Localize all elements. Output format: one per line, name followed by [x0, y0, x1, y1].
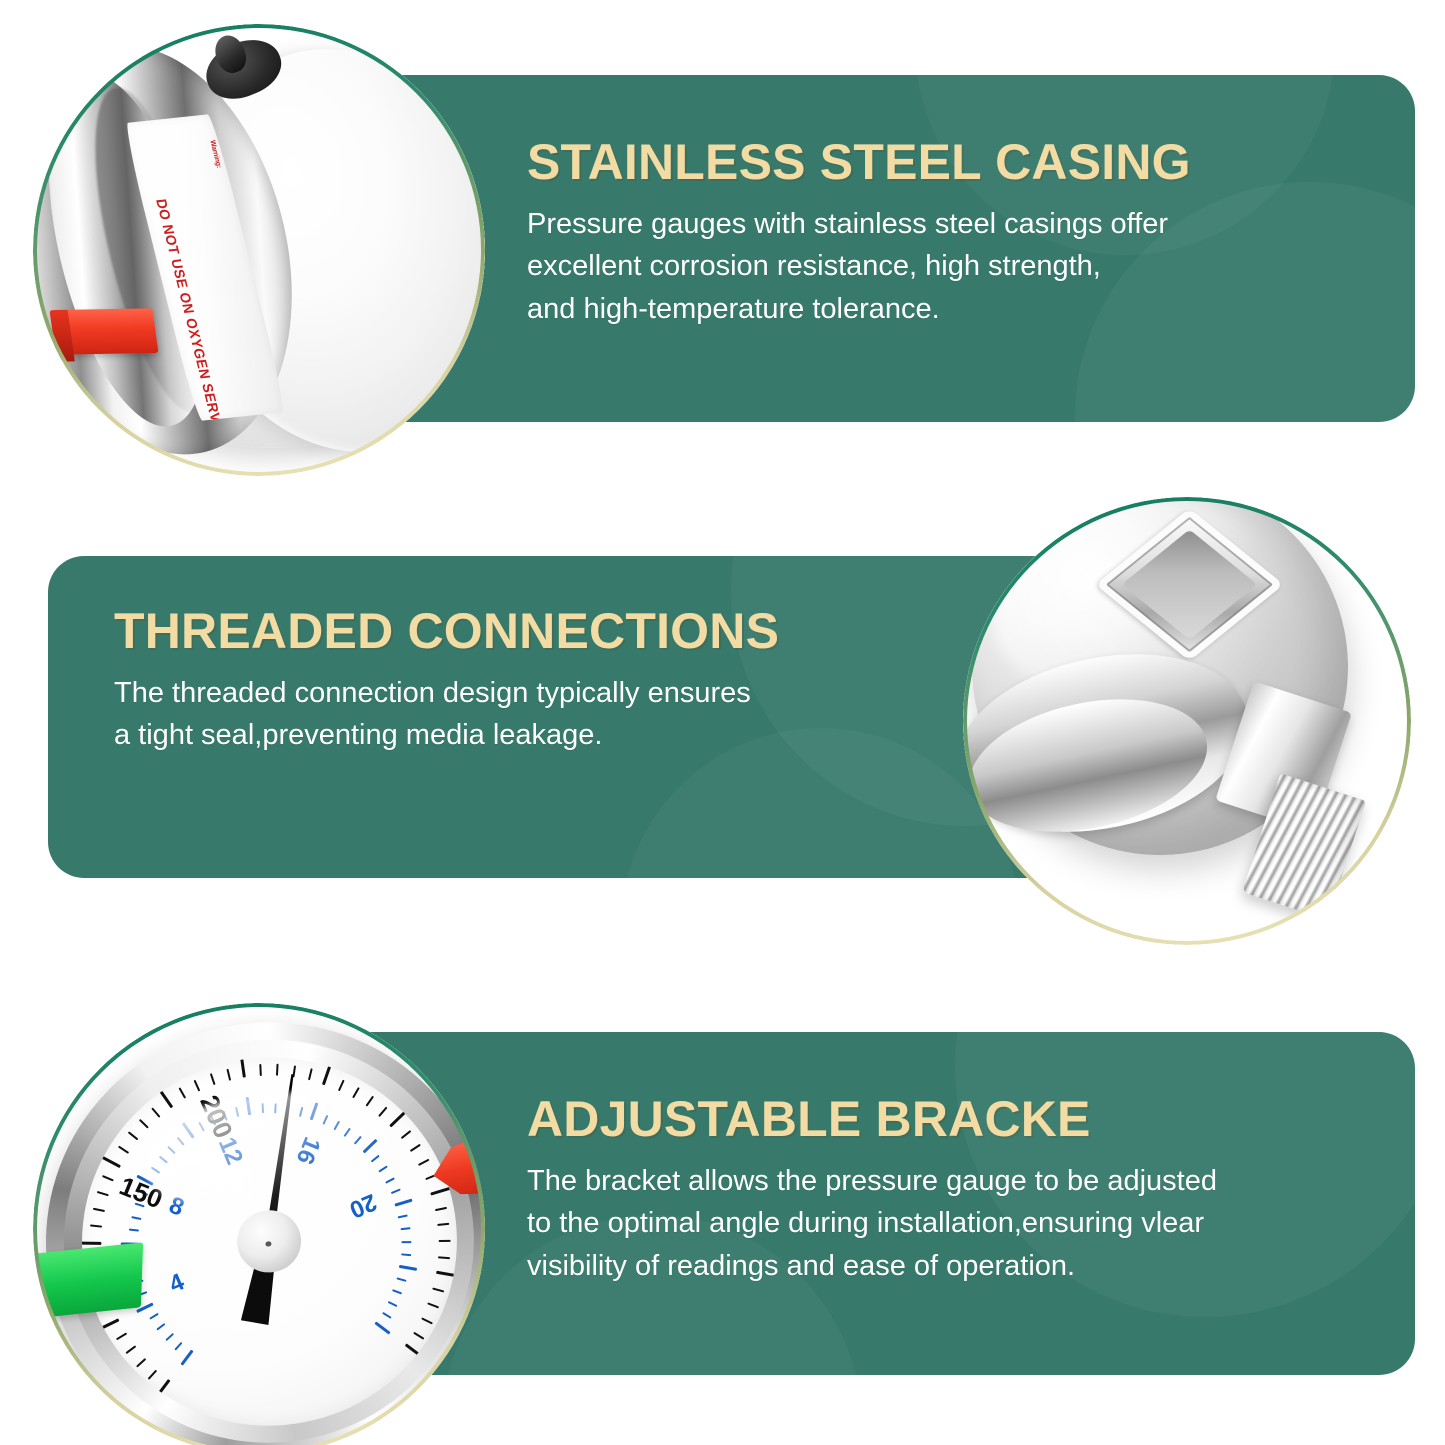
product-photo-gauge-dial-face-closeup: 150200 48121620 [33, 1003, 485, 1445]
panel-body-line: The threaded connection design typically… [114, 672, 779, 714]
panel-text-block: STAINLESS STEEL CASING Pressure gauges w… [527, 135, 1191, 330]
bar-number-label: 8 [164, 1191, 187, 1222]
panel-title: ADJUSTABLE BRACKE [527, 1092, 1217, 1146]
gauge-assembly: 150200 48121620 [33, 1003, 485, 1445]
panel-body-line: Pressure gauges with stainless steel cas… [527, 203, 1191, 245]
panel-body-line: The bracket allows the pressure gauge to… [527, 1160, 1217, 1202]
panel-body-line: a tight seal,preventing media leakage. [114, 714, 779, 756]
photo-scene: 150200 48121620 [33, 1003, 485, 1445]
infographic-canvas: STAINLESS STEEL CASING Pressure gauges w… [0, 0, 1445, 1445]
photo-scene [963, 497, 1411, 945]
warning-label-prefix: Warning: [208, 140, 222, 168]
panel-title: STAINLESS STEEL CASING [527, 135, 1191, 189]
bar-number-label: 12 [212, 1134, 248, 1170]
panel-body-line: excellent corrosion resistance, high str… [527, 245, 1191, 287]
red-indicator-tab [52, 308, 158, 354]
feature-panel-adjustable-bracke: ADJUSTABLE BRACKE The bracket allows the… [322, 1032, 1415, 1375]
photo-scene: Warning: DO NOT USE ON OXYGEN SERVICE [33, 24, 485, 476]
product-photo-gauge-back-with-warning-label: Warning: DO NOT USE ON OXYGEN SERVICE [33, 24, 485, 476]
panel-body-line: to the optimal angle during installation… [527, 1202, 1217, 1244]
panel-body-line: and high-temperature tolerance. [527, 288, 1191, 330]
panel-text-block: THREADED CONNECTIONS The threaded connec… [114, 604, 779, 757]
bar-number-label: 4 [165, 1269, 188, 1300]
bar-number-label: 16 [290, 1133, 326, 1168]
product-photo-threaded-connector-closeup [963, 497, 1411, 945]
panel-body-line: visibility of readings and ease of opera… [527, 1245, 1217, 1287]
feature-panel-stainless-steel-casing: STAINLESS STEEL CASING Pressure gauges w… [322, 75, 1415, 422]
gauge-dial: 150200 48121620 [58, 1033, 480, 1445]
panel-title: THREADED CONNECTIONS [114, 604, 779, 658]
bar-number-label: 20 [345, 1187, 381, 1223]
panel-text-block: ADJUSTABLE BRACKE The bracket allows the… [527, 1092, 1217, 1287]
